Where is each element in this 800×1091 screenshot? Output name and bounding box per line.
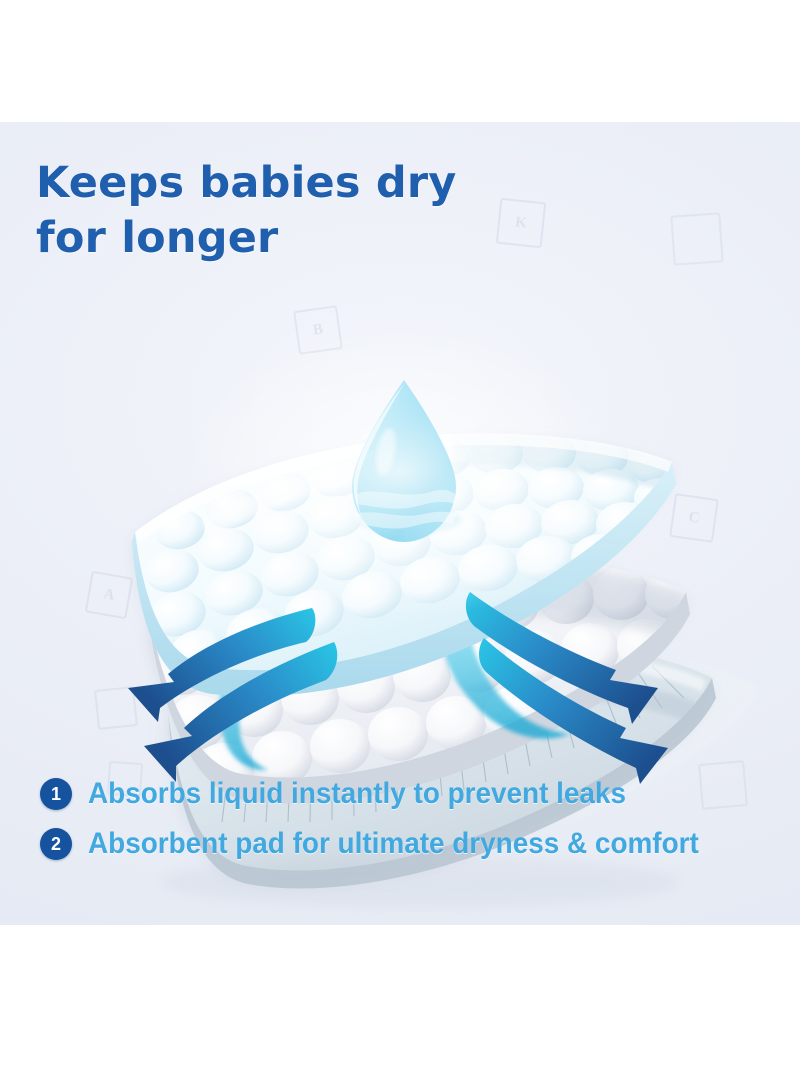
water-droplet	[352, 380, 462, 542]
list-item: 2Absorbent pad for ultimate dryness & co…	[0, 828, 800, 860]
list-item: 1Absorbs liquid instantly to prevent lea…	[0, 778, 800, 810]
headline-line-2: for longer	[36, 211, 457, 266]
promo-panel: BKAC Keeps babies dry for longer	[0, 122, 800, 925]
list-item-number-badge: 2	[40, 828, 72, 860]
list-item-label: Absorbent pad for ultimate dryness & com…	[88, 828, 699, 860]
headline-line-1: Keeps babies dry	[36, 158, 457, 208]
page-title: Keeps babies dry for longer	[36, 156, 457, 266]
list-item-label: Absorbs liquid instantly to prevent leak…	[88, 778, 626, 810]
list-item-number-badge: 1	[40, 778, 72, 810]
feature-list: 1Absorbs liquid instantly to prevent lea…	[0, 778, 800, 878]
